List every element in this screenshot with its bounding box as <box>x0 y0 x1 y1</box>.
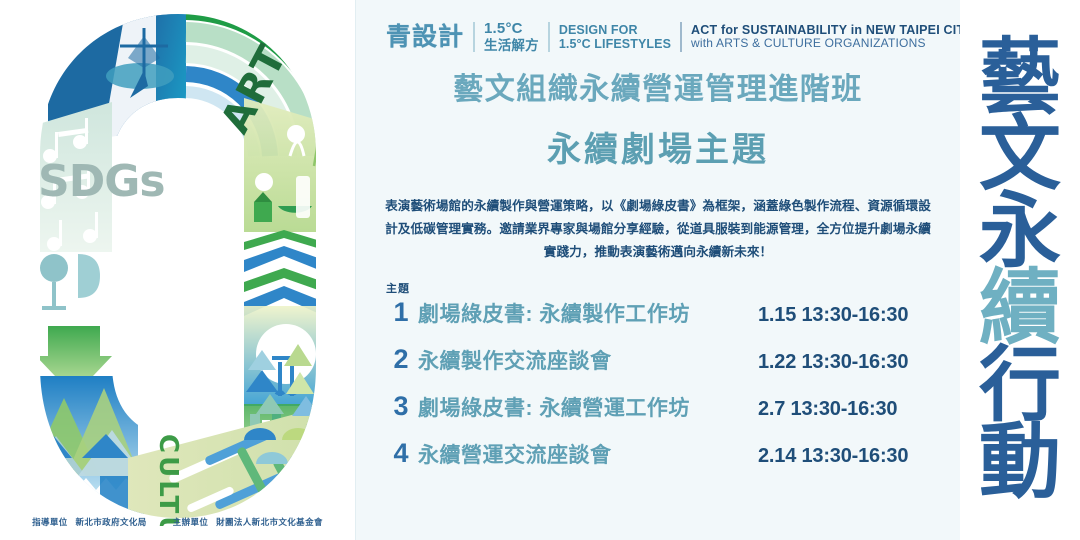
session-list: 1 劇場綠皮書: 永續製作工作坊 1.15 13:30-16:30 2 永續製作… <box>384 298 938 486</box>
chevron-stack <box>244 230 324 316</box>
session-row: 2 永續製作交流座談會 1.22 13:30-16:30 <box>384 345 938 392</box>
act-statement: ACT for SUSTAINABILITY in NEW TAIPEI CIT… <box>691 23 973 50</box>
temp-value: 1.5°C <box>484 21 539 38</box>
vtitle-char-5: 行 <box>979 347 1061 424</box>
vtitle-char-3: 永 <box>979 193 1061 270</box>
session-row: 1 劇場綠皮書: 永續製作工作坊 1.15 13:30-16:30 <box>384 298 938 345</box>
divider-3 <box>680 22 682 52</box>
vtitle-char-6: 動 <box>979 424 1061 501</box>
tagline-line2: 1.5°C LIFESTYLES <box>559 37 671 51</box>
cup-arrow-tile <box>30 252 114 396</box>
vertical-title: 藝 文 永 續 行 動 <box>979 39 1061 501</box>
session-name: 劇場綠皮書: 永續營運工作坊 <box>418 392 758 422</box>
program-subtitle: 永續劇場主題 <box>378 122 938 171</box>
divider-2 <box>548 22 550 52</box>
temp-subtitle: 生活解方 <box>484 38 539 53</box>
tagline-line1: DESIGN FOR <box>559 23 671 37</box>
session-name: 永續製作交流座談會 <box>418 345 758 375</box>
program-title: 藝文組織永續營運管理進階班 <box>378 64 938 108</box>
session-time: 2.14 13:30-16:30 <box>758 445 938 468</box>
content-panel: 青設計 1.5°C 生活解方 DESIGN FOR 1.5°C LIFESTYL… <box>355 0 960 540</box>
session-time: 2.7 13:30-16:30 <box>758 398 938 421</box>
zero-loop-illustration: SDGs ART CULTURE <box>8 6 348 526</box>
act-line1: ACT for SUSTAINABILITY in NEW TAIPEI CIT… <box>691 23 973 37</box>
english-tagline: DESIGN FOR 1.5°C LIFESTYLES <box>559 23 671 51</box>
footer-value-host: 財團法人新北市文化基金會 <box>216 517 323 527</box>
act-line2: with ARTS & CULTURE ORGANIZATIONS <box>691 37 973 50</box>
session-row: 3 劇場綠皮書: 永續營運工作坊 2.7 13:30-16:30 <box>384 392 938 439</box>
topic-label: 主題 <box>386 280 938 296</box>
session-number: 4 <box>384 440 418 467</box>
footer-item-host: 主辦單位 財團法人新北市文化基金會 <box>173 516 323 528</box>
session-name: 永續營運交流座談會 <box>418 439 758 469</box>
session-number: 2 <box>384 346 418 373</box>
vtitle-char-4: 續 <box>979 270 1061 347</box>
wordmark-culture: CULTURE <box>153 434 183 526</box>
footer-label-host: 主辦單位 <box>173 517 209 527</box>
session-name: 劇場綠皮書: 永續製作工作坊 <box>418 298 758 328</box>
divider-1 <box>473 22 475 52</box>
brand-lockup: 青設計 1.5°C 生活解方 DESIGN FOR 1.5°C LIFESTYL… <box>386 14 938 60</box>
wordmark-sdgs: SDGs <box>38 156 165 207</box>
session-time: 1.22 13:30-16:30 <box>758 351 938 374</box>
temperature-lockup: 1.5°C 生活解方 <box>484 21 539 53</box>
footer-item-guidance: 指導單位 新北市政府文化局 <box>32 516 147 528</box>
footer-label-guidance: 指導單位 <box>32 517 68 527</box>
session-number: 3 <box>384 393 418 420</box>
organizer-footer: 指導單位 新北市政府文化局 主辦單位 財團法人新北市文化基金會 <box>0 516 355 528</box>
poster-root: SDGs ART CULTURE 指導單位 新北市政府文化局 主辦單位 財團法人… <box>0 0 1080 540</box>
vertical-title-panel: 藝 文 永 續 行 動 <box>960 0 1080 540</box>
vtitle-char-2: 文 <box>979 116 1061 193</box>
artwork-panel: SDGs ART CULTURE 指導單位 新北市政府文化局 主辦單位 財團法人… <box>0 0 355 540</box>
session-number: 1 <box>384 299 418 326</box>
session-row: 4 永續營運交流座談會 2.14 13:30-16:30 <box>384 439 938 486</box>
vtitle-char-1: 藝 <box>979 39 1061 116</box>
program-description: 表演藝術場館的永續製作與營運策略，以《劇場綠皮書》為框架，涵蓋綠色製作流程、資源… <box>384 195 932 264</box>
footer-value-guidance: 新北市政府文化局 <box>75 517 146 527</box>
brand-logo: 青設計 <box>386 25 464 50</box>
session-time: 1.15 13:30-16:30 <box>758 304 938 327</box>
